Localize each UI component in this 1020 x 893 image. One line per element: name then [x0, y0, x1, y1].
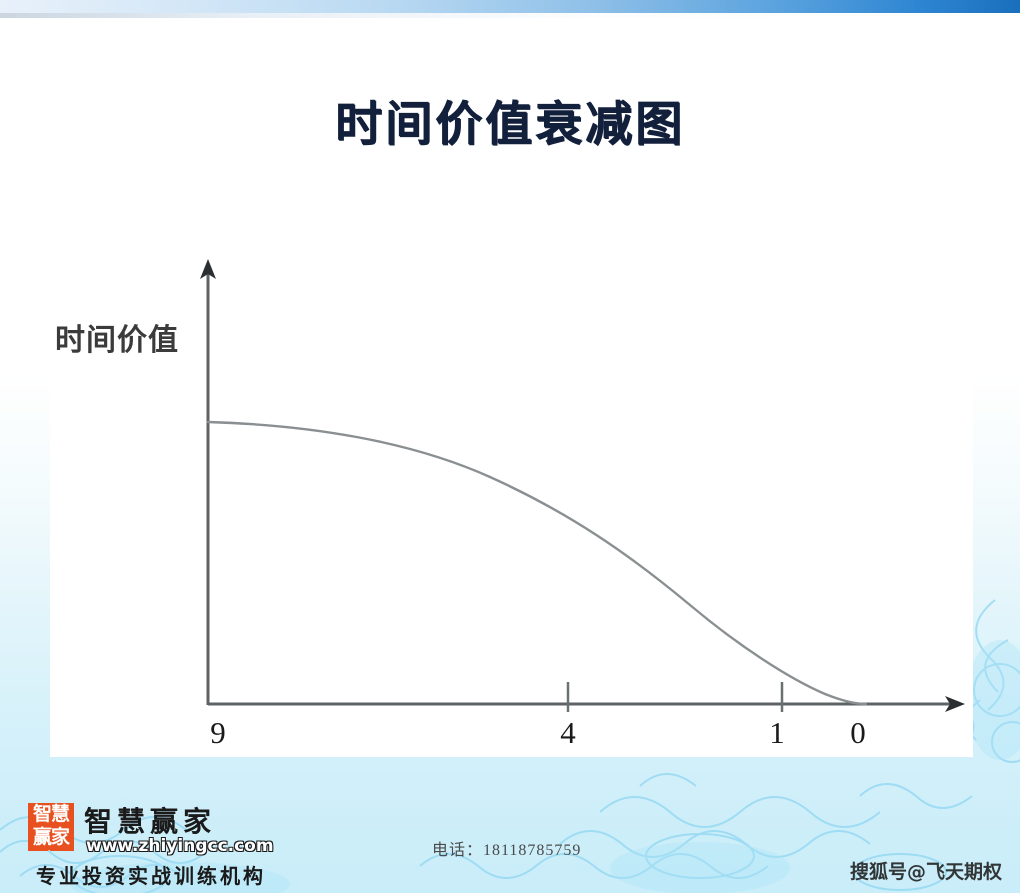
top-decorative-band: [0, 0, 1020, 13]
y-axis-label: 时间价值: [55, 315, 179, 359]
contact-phone: 电话：18118785759: [432, 836, 581, 860]
x-tick-label-4: 4: [548, 715, 588, 751]
chart-panel: 9 4 1 0: [50, 245, 973, 757]
brand-logo-block: 智慧赢家印 智慧赢家 www.zhiyingcc.com 专业投资实战训练机构: [22, 800, 382, 886]
brand-name: 智慧赢家: [84, 800, 216, 840]
brand-tagline: 专业投资实战训练机构: [36, 860, 266, 889]
sohu-watermark: 搜狐号@飞天期权: [850, 857, 1002, 884]
x-tick-label-1: 1: [757, 715, 797, 751]
slide-root: 时间价值衰减图 9 4 1 0 时间价值 智慧赢家印 智慧赢家 www.zhiy…: [0, 0, 1020, 893]
page-title: 时间价值衰减图: [0, 85, 1020, 154]
x-tick-label-0: 0: [838, 715, 878, 751]
time-value-decay-chart: [50, 245, 973, 757]
seal-stamp-icon: 智慧赢家印: [28, 803, 74, 851]
time-value-decay-curve: [208, 422, 866, 704]
x-tick-label-9: 9: [198, 715, 238, 751]
brand-url: www.zhiyingcc.com: [86, 836, 274, 856]
top-band-shadow: [0, 13, 1020, 18]
